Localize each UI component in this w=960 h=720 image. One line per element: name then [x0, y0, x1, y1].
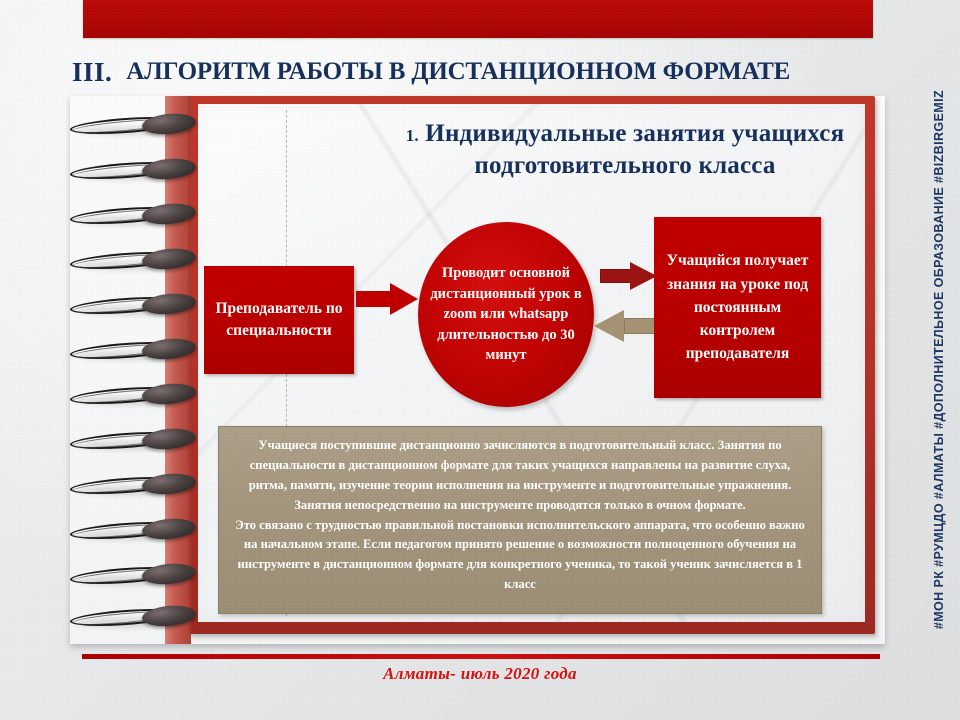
diagram-ellipse-main-process: Проводит основной дистанционный урок в z…: [418, 222, 594, 407]
slide-canvas: III. АЛГОРИТМ РАБОТЫ В ДИСТАНЦИОННОМ ФОР…: [0, 0, 960, 720]
side-hashtag-strip: #МОН РК #РУМЦДО #АЛМАТЫ #ДОПОЛНИТЕЛЬНОЕ …: [922, 0, 956, 720]
diagram-box-student: Учащийся получает знания на уроке под по…: [654, 217, 821, 398]
note-panel: Учащиеся поступившие дистанционно зачисл…: [218, 426, 822, 614]
arrow-left-icon: [594, 310, 660, 342]
slide-footer: Алматы- июль 2020 года: [0, 664, 960, 684]
diagram-box-teacher: Преподаватель по специальности: [204, 266, 354, 374]
note-paragraph-1: Учащиеся поступившие дистанционно зачисл…: [231, 436, 809, 516]
arrow-right-icon: [600, 262, 657, 290]
side-hashtag-text: #МОН РК #РУМЦДО #АЛМАТЫ #ДОПОЛНИТЕЛЬНОЕ …: [932, 90, 946, 629]
bottom-red-rule: [82, 654, 880, 659]
note-paragraph-2: Это связано с трудностью правильной пост…: [231, 516, 809, 596]
arrow-right-icon: [356, 283, 418, 315]
